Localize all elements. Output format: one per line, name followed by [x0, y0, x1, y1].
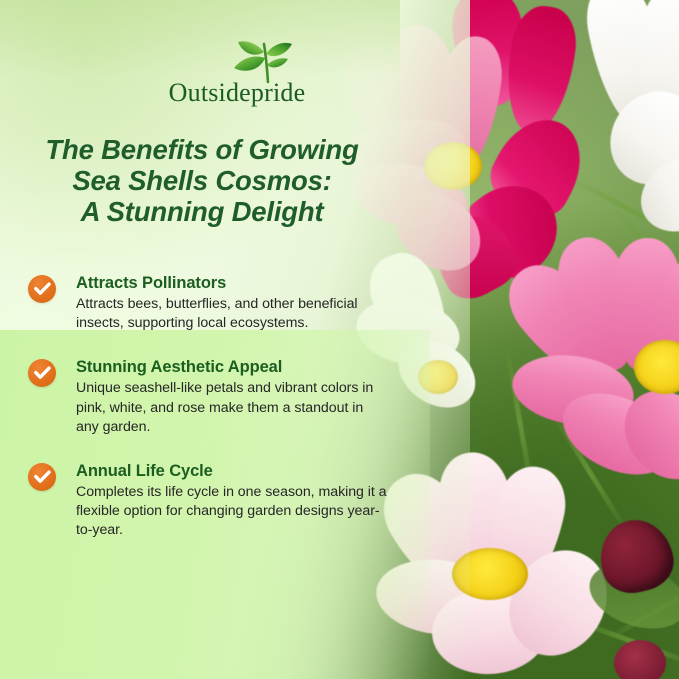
headline-line-1: The Benefits of Growing	[14, 134, 390, 165]
benefits-list: Attracts Pollinators Attracts bees, butt…	[28, 273, 388, 541]
headline-line-2: Sea Shells Cosmos:	[14, 165, 390, 196]
benefit-body: Attracts bees, butterflies, and other be…	[76, 295, 388, 333]
benefit-title: Attracts Pollinators	[76, 273, 388, 293]
benefit-item: Stunning Aesthetic Appeal Unique seashel…	[28, 357, 388, 437]
seedling-leaf-icon	[224, 38, 296, 84]
check-circle-icon	[28, 463, 56, 491]
benefit-title: Annual Life Cycle	[76, 461, 388, 481]
headline-line-3: A Stunning Delight	[14, 196, 390, 227]
benefit-item: Annual Life Cycle Completes its life cyc…	[28, 461, 388, 541]
benefit-item: Attracts Pollinators Attracts bees, butt…	[28, 273, 388, 333]
benefit-body: Completes its life cycle in one season, …	[76, 483, 388, 541]
benefit-title: Stunning Aesthetic Appeal	[76, 357, 388, 377]
check-circle-icon	[28, 275, 56, 303]
brand-logo[interactable]: Outsidepride	[152, 38, 322, 108]
benefit-body: Unique seashell-like petals and vibrant …	[76, 379, 388, 437]
check-circle-icon	[28, 359, 56, 387]
page-title: The Benefits of Growing Sea Shells Cosmo…	[14, 134, 390, 227]
benefits-infographic-poster: Outsidepride The Benefits of Growing Sea…	[0, 0, 679, 679]
